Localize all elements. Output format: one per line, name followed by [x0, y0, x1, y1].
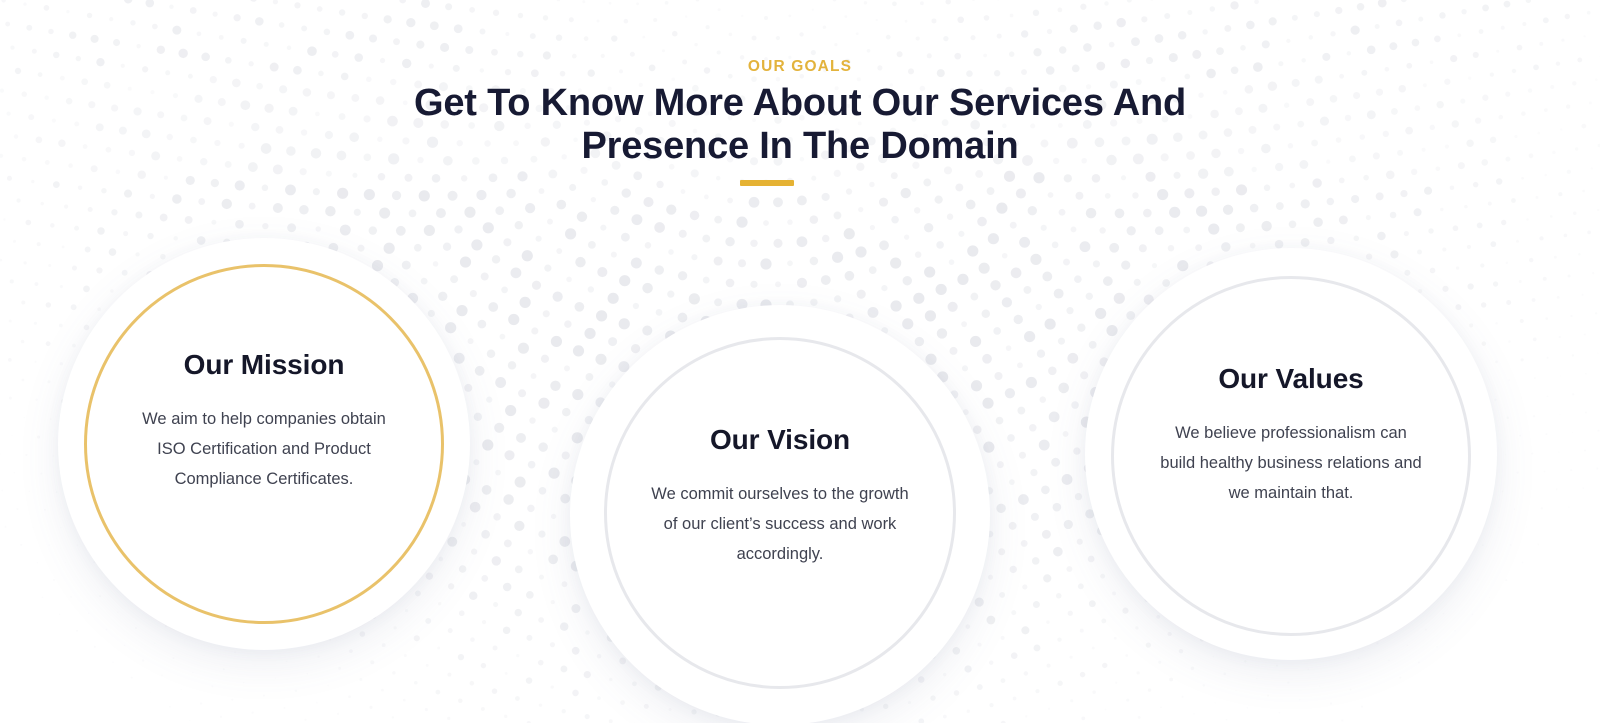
card-content: Our Vision We commit ourselves to the gr…: [646, 340, 914, 569]
card-body: We aim to help companies obtain ISO Cert…: [134, 404, 394, 494]
card-ring-gold: Our Mission We aim to help companies obt…: [84, 264, 444, 624]
our-goals-section: OUR GOALS Get To Know More About Our Ser…: [0, 0, 1600, 723]
card-title: Our Mission: [134, 349, 394, 381]
card-our-mission[interactable]: Our Mission We aim to help companies obt…: [58, 238, 470, 650]
accent-divider: [740, 180, 794, 186]
card-title: Our Values: [1159, 363, 1423, 395]
card-ring-silver: Our Values We believe professionalism ca…: [1111, 276, 1471, 636]
card-body: We commit ourselves to the growth of our…: [646, 479, 914, 569]
card-ring-silver: Our Vision We commit ourselves to the gr…: [604, 337, 956, 689]
card-content: Our Mission We aim to help companies obt…: [134, 267, 394, 494]
card-body: We believe professionalism can build hea…: [1159, 418, 1423, 508]
card-our-values[interactable]: Our Values We believe professionalism ca…: [1085, 248, 1497, 660]
section-eyebrow: OUR GOALS: [0, 58, 1600, 76]
card-content: Our Values We believe professionalism ca…: [1159, 279, 1423, 508]
card-title: Our Vision: [646, 424, 914, 456]
card-our-vision[interactable]: Our Vision We commit ourselves to the gr…: [570, 305, 990, 723]
page-title: Get To Know More About Our Services And …: [400, 82, 1200, 168]
